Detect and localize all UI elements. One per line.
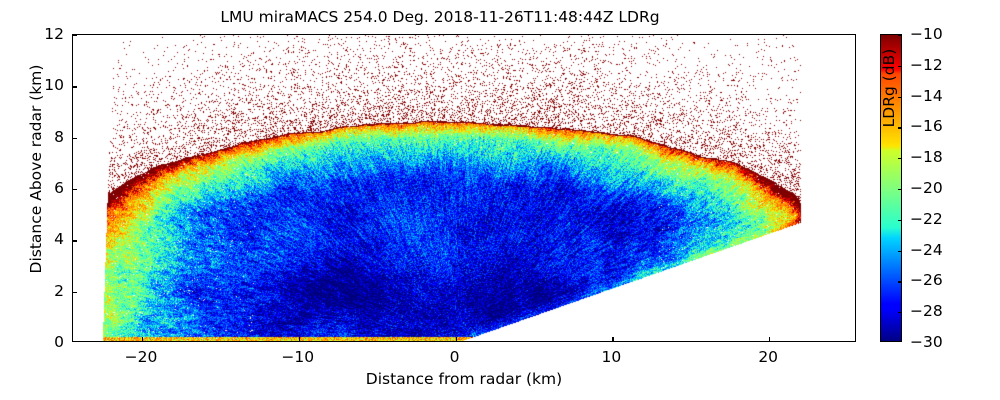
x-tick-label: 0 bbox=[450, 348, 460, 366]
y-axis-label: Distance Above radar (km) bbox=[27, 49, 45, 289]
x-tick-label: −20 bbox=[125, 348, 158, 366]
colorbar-tick-label: −12 bbox=[910, 56, 943, 74]
x-tick bbox=[456, 337, 457, 342]
y-tick bbox=[72, 138, 77, 139]
y-tick-label: 0 bbox=[20, 333, 64, 351]
colorbar-tick-label: −14 bbox=[910, 87, 943, 105]
y-tick bbox=[72, 86, 77, 87]
colorbar-tick bbox=[898, 158, 902, 159]
y-tick bbox=[72, 189, 77, 190]
colorbar-tick-label: −24 bbox=[910, 241, 943, 259]
x-tick bbox=[612, 337, 613, 342]
colorbar-tick-label: −30 bbox=[910, 333, 943, 351]
x-tick bbox=[769, 337, 770, 342]
radar-reflectivity-field bbox=[73, 35, 856, 342]
colorbar-label: LDRg (dB) bbox=[880, 0, 898, 188]
x-tick bbox=[299, 337, 300, 342]
colorbar-tick-label: −10 bbox=[910, 25, 943, 43]
colorbar-tick-label: −26 bbox=[910, 271, 943, 289]
y-tick bbox=[72, 35, 77, 36]
chart-title: LMU miraMACS 254.0 Deg. 2018-11-26T11:48… bbox=[0, 8, 880, 26]
colorbar-tick bbox=[898, 251, 902, 252]
colorbar-tick-label: −20 bbox=[910, 179, 943, 197]
x-tick-label: 10 bbox=[602, 348, 622, 366]
colorbar-tick-label: −16 bbox=[910, 117, 943, 135]
colorbar-tick-label: −28 bbox=[910, 302, 943, 320]
colorbar-tick bbox=[898, 66, 902, 67]
x-tick bbox=[142, 337, 143, 342]
colorbar-tick bbox=[898, 35, 902, 36]
x-tick-label: −10 bbox=[281, 348, 314, 366]
colorbar-tick bbox=[898, 127, 902, 128]
radar-figure: LMU miraMACS 254.0 Deg. 2018-11-26T11:48… bbox=[0, 0, 1000, 400]
colorbar-tick bbox=[898, 189, 902, 190]
colorbar-tick-label: −18 bbox=[910, 148, 943, 166]
colorbar-tick-label: −22 bbox=[910, 210, 943, 228]
colorbar-tick bbox=[898, 312, 902, 313]
colorbar-tick bbox=[898, 97, 902, 98]
x-axis-label: Distance from radar (km) bbox=[72, 370, 856, 388]
x-tick-label: 20 bbox=[758, 348, 778, 366]
y-tick bbox=[72, 292, 77, 293]
y-tick-label: 12 bbox=[20, 25, 64, 43]
plot-axes bbox=[72, 34, 856, 342]
colorbar-tick bbox=[898, 220, 902, 221]
colorbar-tick bbox=[898, 281, 902, 282]
y-tick bbox=[72, 240, 77, 241]
